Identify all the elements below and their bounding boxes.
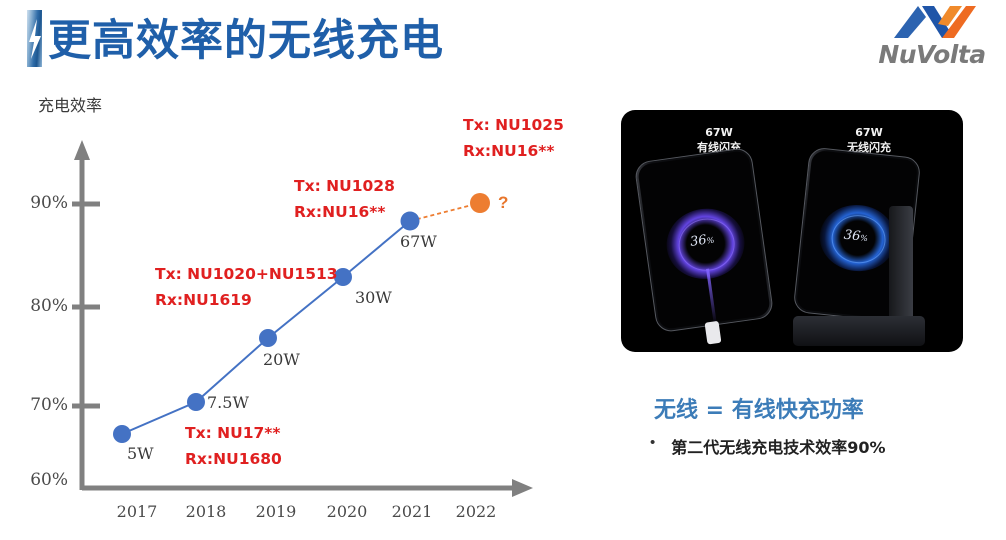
ytick-label-90: 90% [22,193,68,213]
usb-cable-plug [705,321,722,345]
annotation-nu1020-tx: Tx: NU1020+NU1513 [155,263,338,285]
annotation-nu1025-rx: Rx:NU16** [463,140,554,162]
wireless-charging-stand-arm [889,206,913,322]
ytick-label-80: 80% [22,296,68,316]
annotation-nu1028-tx: Tx: NU1028 [294,175,395,197]
efficiency-chart: 充电效率 90% 80% 70% 60% [0,80,600,540]
phone-wired-screen: 36% [637,150,771,330]
annotation-nu1028-rx: Rx:NU16** [294,201,385,223]
point-label-5w: 5W [127,444,154,463]
bullet-marker-icon: • [650,434,655,452]
right-bullet-row: • 第二代无线充电技术效率90% [650,434,990,458]
photo-caption-wired-power: 67W [659,126,779,141]
xtick-label-2021: 2021 [385,502,439,521]
charging-comparison-photo: 67W 有线闪充 67W 无线闪充 36% 36% [621,110,963,352]
xtick-label-2020: 2020 [320,502,374,521]
slide-root: 更高效率的无线充电 NuVolta 充电效率 [0,0,1006,540]
nuvolta-logo: NuVolta [864,4,1000,74]
photo-caption-wireless-power: 67W [809,126,929,141]
point-label-30w: 30W [355,288,392,307]
point-label-20w: 20W [263,350,300,369]
xtick-label-2017: 2017 [110,502,164,521]
phone-wired: 36% [634,147,775,334]
right-heading: 无线 = 有线快充功率 [654,392,864,424]
ytick-label-70: 70% [22,395,68,415]
annotation-nu17-tx: Tx: NU17** [185,422,281,444]
unknown-marker: ? [498,193,508,213]
right-bullet-text: 第二代无线充电技术效率90% [671,434,885,458]
ytick-label-60: 60% [22,470,68,490]
series-line-wireless [122,221,410,434]
percent-sign-wired: % [706,236,715,246]
xtick-label-2018: 2018 [179,502,233,521]
data-point-67w [401,212,420,231]
data-point-20w [259,329,277,347]
xtick-label-2019: 2019 [249,502,303,521]
lightning-bolt-icon [27,10,42,67]
page-title: 更高效率的无线充电 [48,6,444,68]
nuvolta-wordmark: NuVolta [864,40,1000,69]
point-label-7-5w: 7.5W [207,393,249,412]
data-point-future [470,193,490,213]
series-line-projection [410,203,480,221]
xtick-label-2022: 2022 [449,502,503,521]
annotation-nu1025-tx: Tx: NU1025 [463,114,564,136]
point-label-67w: 67W [400,232,437,251]
data-point-7-5w [187,393,205,411]
annotation-nu17-rx: Rx:NU1680 [185,448,282,470]
percent-sign-wireless: % [860,233,869,243]
data-point-5w [113,425,131,443]
wireless-charging-stand-base [793,316,925,346]
battery-percent-wireless: 36% [843,228,869,245]
nuvolta-n-mark-icon [892,4,978,40]
annotation-nu1020-rx: Rx:NU1619 [155,289,252,311]
bolt-glyph [26,17,43,61]
